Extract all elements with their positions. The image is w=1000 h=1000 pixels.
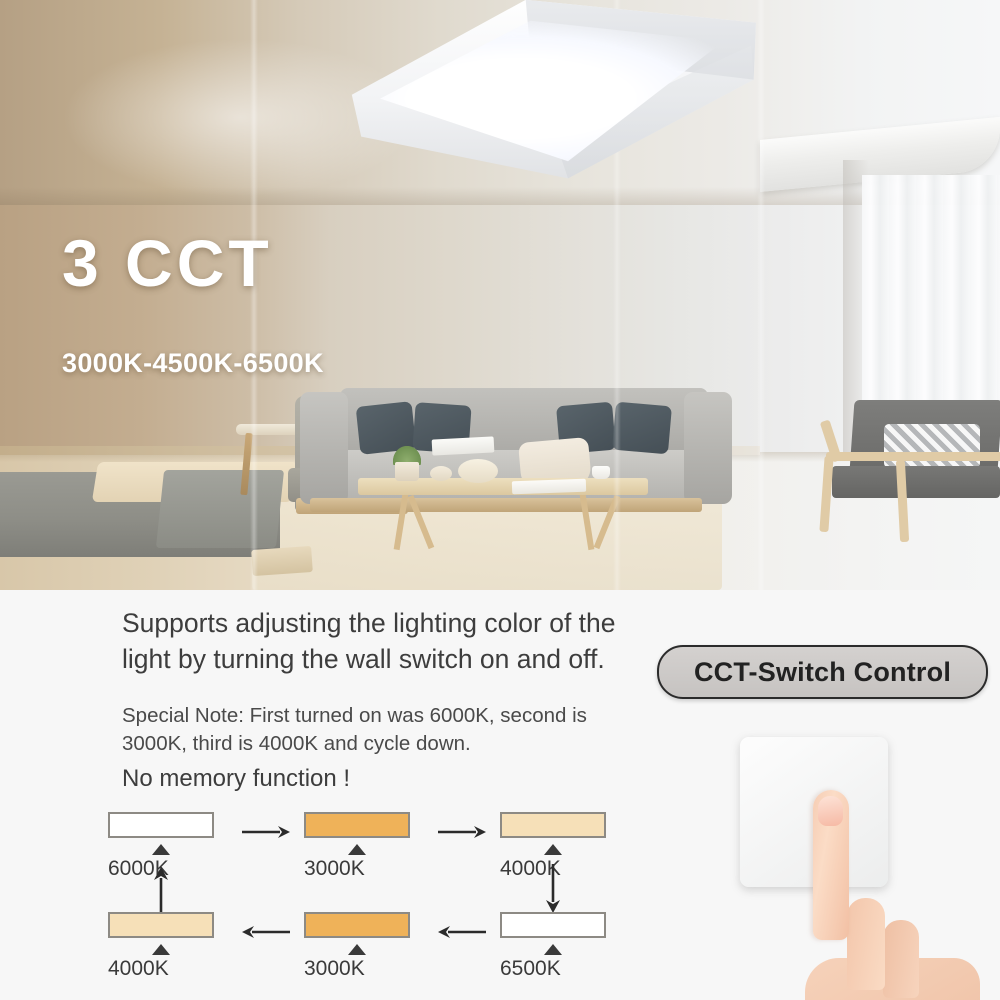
arrow-right-icon <box>436 824 488 840</box>
fingernail <box>818 796 843 826</box>
page-subtitle: 3000K-4500K-6500K <box>62 348 324 379</box>
cct-step-label: 4000K <box>108 957 220 981</box>
cct-swatch <box>500 912 606 938</box>
led-ceiling-panel-light <box>286 0 756 186</box>
description-line-2: light by turning the wall switch on and … <box>122 642 682 678</box>
no-memory-notice: No memory function ! <box>122 765 350 793</box>
cct-cycle-row: 6000K 3000K 4000K <box>100 812 680 894</box>
arrow-right-icon <box>240 824 292 840</box>
decor-object-large <box>458 459 498 483</box>
pressing-finger <box>795 790 1000 1000</box>
cct-cycle-diagram: 6000K 3000K 4000K <box>100 812 680 1000</box>
arrow-down-icon <box>544 864 562 914</box>
bed-blanket <box>156 470 284 548</box>
right-armchair-seat <box>832 466 1000 498</box>
sofa-base <box>310 498 702 512</box>
cct-swatch <box>304 812 410 838</box>
cct-step: 3000K <box>304 912 426 981</box>
plant-pot <box>395 462 419 481</box>
throw-pillow <box>612 402 672 455</box>
special-note-line-1: Special Note: First turned on was 6000K,… <box>122 702 682 730</box>
middle-finger <box>847 898 885 990</box>
cct-marker-triangle <box>544 944 562 955</box>
product-infographic: 3 CCT 3000K-4500K-6500K Supports adjusti… <box>0 0 1000 1000</box>
sofa-armrest-left <box>300 392 348 504</box>
cct-step: 3000K <box>304 812 426 881</box>
cct-switch-control-badge-label: CCT-Switch Control <box>694 657 951 688</box>
cct-marker-triangle <box>348 844 366 855</box>
cct-step: 4000K <box>108 912 230 981</box>
cct-marker-triangle <box>152 844 170 855</box>
open-book <box>432 436 495 455</box>
cct-switch-control-badge: CCT-Switch Control <box>657 645 988 699</box>
cct-cycle-row: 4000K 3000K 6500K <box>100 912 680 994</box>
hero-room-photo: 3 CCT 3000K-4500K-6500K <box>0 0 1000 590</box>
coffee-cup <box>592 466 610 479</box>
special-note-line-2: 3000K, third is 4000K and cycle down. <box>122 730 682 758</box>
page-title: 3 CCT <box>62 230 273 296</box>
floor-box <box>251 546 313 576</box>
magazine <box>512 479 586 495</box>
cct-swatch <box>108 912 214 938</box>
cct-swatch <box>304 912 410 938</box>
right-armchair-frame <box>826 452 1000 461</box>
decor-object-small <box>430 466 452 481</box>
arrow-left-icon <box>240 924 292 940</box>
cct-step-label: 6500K <box>500 957 612 981</box>
description-main: Supports adjusting the lighting color of… <box>122 606 682 677</box>
cct-marker-triangle <box>152 944 170 955</box>
cct-marker-triangle <box>348 944 366 955</box>
cct-swatch <box>108 812 214 838</box>
cct-marker-triangle <box>544 844 562 855</box>
description-line-1: Supports adjusting the lighting color of… <box>122 606 682 642</box>
cct-zone-divider <box>757 0 765 590</box>
cct-swatch <box>500 812 606 838</box>
info-panel: Supports adjusting the lighting color of… <box>0 590 1000 1000</box>
cct-step-label: 3000K <box>304 857 416 881</box>
cct-step: 6500K <box>500 912 622 981</box>
arrow-left-icon <box>436 924 488 940</box>
arrow-up-icon <box>152 866 170 916</box>
ring-finger <box>883 920 919 998</box>
sofa-armrest-right <box>684 392 732 504</box>
special-note: Special Note: First turned on was 6000K,… <box>122 702 682 757</box>
cct-step-label: 3000K <box>304 957 416 981</box>
